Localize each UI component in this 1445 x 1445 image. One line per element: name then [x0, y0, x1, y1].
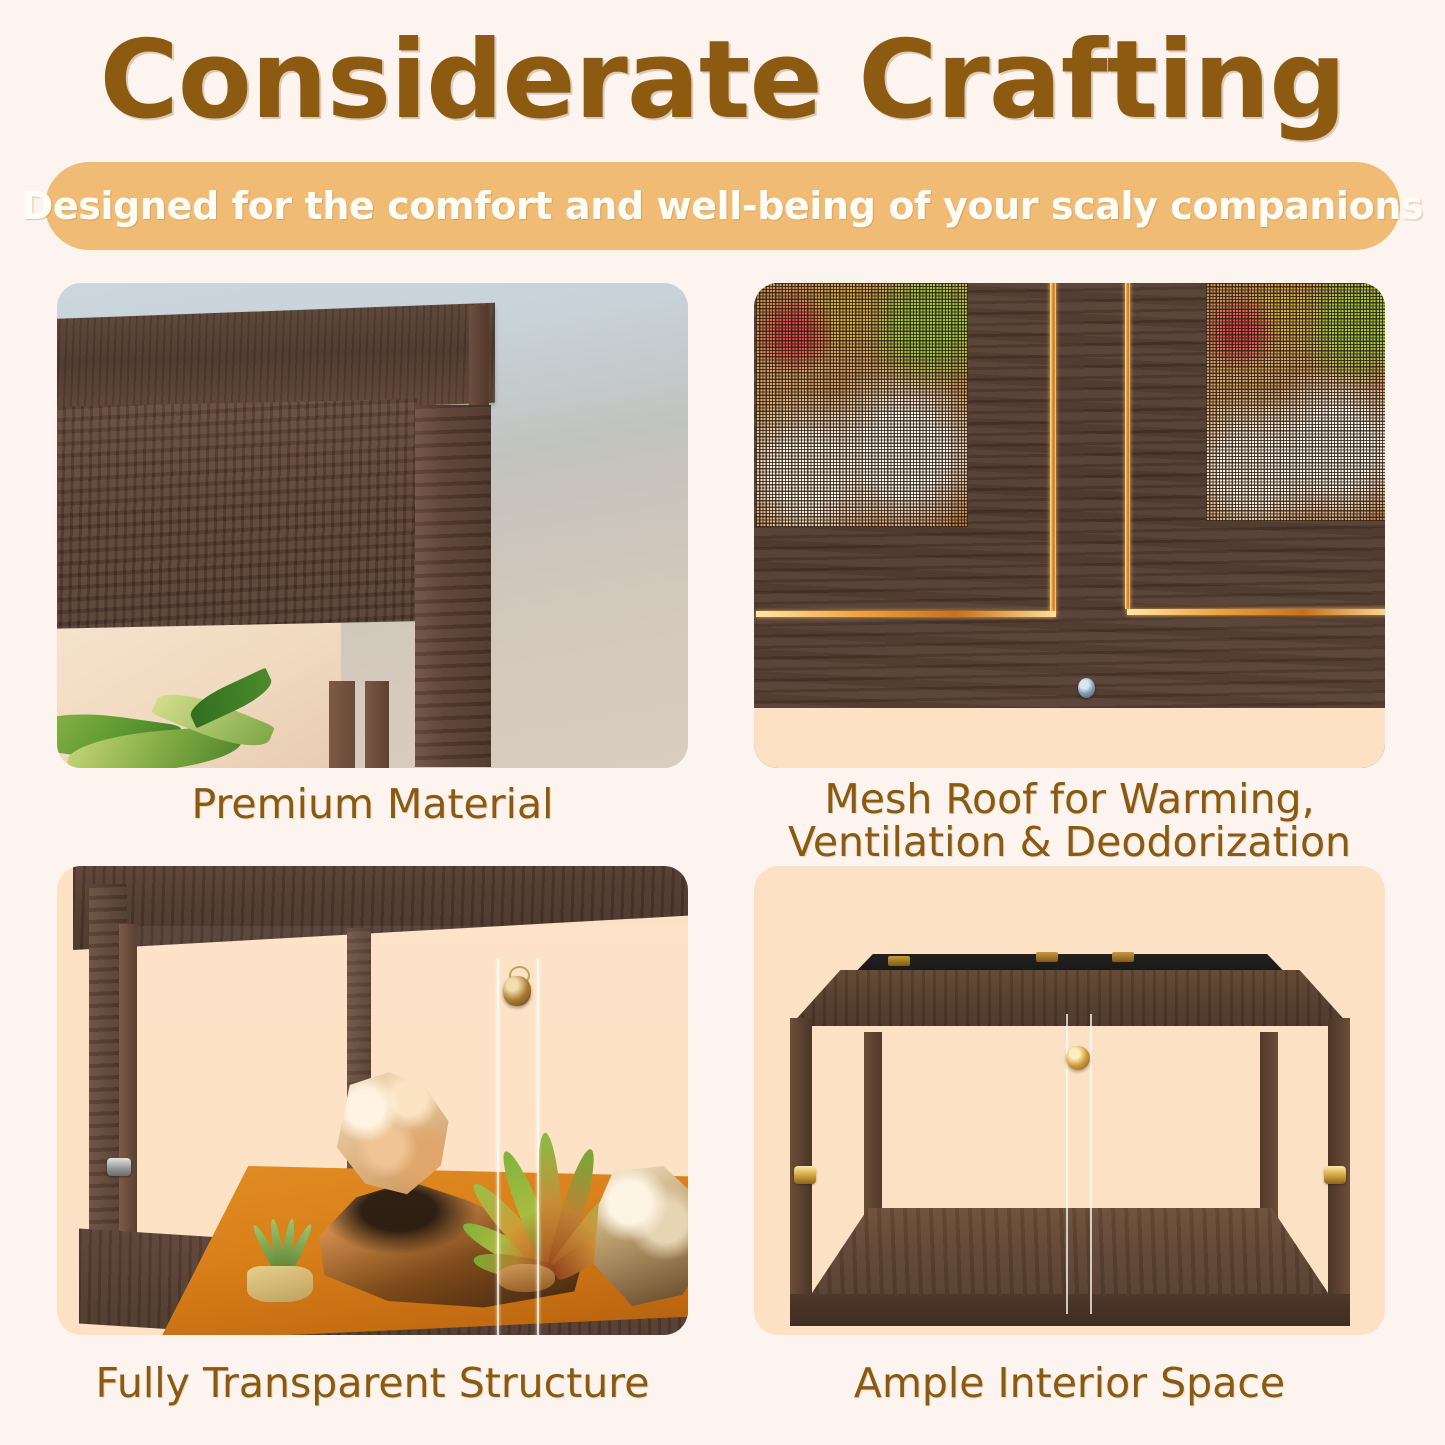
terrarium-left-post — [790, 1018, 812, 1308]
feature-image-ample-interior-space — [754, 866, 1385, 1335]
mesh-screen-texture — [1206, 283, 1385, 521]
glass-door-seam-left — [497, 958, 499, 1335]
screw-icon — [1078, 678, 1095, 698]
feature-caption-transparent-structure: Fully Transparent Structure — [47, 1362, 698, 1405]
terrarium-right-post — [1328, 1018, 1350, 1308]
subtitle-banner: Designed for the comfort and well-being … — [45, 162, 1400, 250]
mesh-screen-texture — [756, 283, 968, 527]
wood-top-edge — [469, 305, 489, 414]
feature-image-mesh-roof — [754, 283, 1385, 768]
feature-caption-line-1: Mesh Roof for Warming, — [744, 778, 1395, 821]
feature-image-transparent-structure — [57, 866, 688, 1335]
wood-inner-post-secondary — [365, 681, 389, 768]
panel-bottom-fill — [754, 708, 1385, 768]
door-hinge-icon — [107, 1158, 131, 1176]
subtitle-text: Designed for the comfort and well-being … — [22, 184, 1423, 228]
feature-caption-premium-material: Premium Material — [57, 783, 688, 826]
terrarium-inner-right-post — [1260, 1032, 1278, 1232]
terrarium-front-rail — [790, 1294, 1350, 1326]
feature-caption-line-2: Ventilation & Deodorization — [744, 821, 1395, 864]
door-knob-icon — [1066, 1046, 1090, 1070]
lid-latch-icon — [1112, 952, 1134, 962]
feature-caption-mesh-roof: Mesh Roof for Warming, Ventilation & Deo… — [744, 778, 1395, 865]
door-knob-icon — [503, 976, 531, 1006]
door-hinge-icon — [794, 1166, 816, 1184]
lid-latch-icon — [888, 956, 910, 966]
wood-front-panel — [57, 399, 417, 629]
gold-trim-vertical-left — [1050, 283, 1056, 612]
lid-latch-icon — [1036, 952, 1058, 962]
terrarium-inner-left-post — [864, 1032, 882, 1232]
plant-base — [497, 1264, 555, 1292]
mesh-opening-right — [1206, 283, 1385, 521]
gold-trim-vertical-right — [1125, 283, 1130, 609]
door-hinge-icon — [1324, 1166, 1346, 1184]
mesh-opening-left — [756, 283, 968, 527]
terrarium-top-frame — [790, 970, 1350, 1026]
gold-trim-horizontal-left — [756, 611, 1056, 617]
gold-trim-horizontal-right — [1127, 609, 1385, 615]
glass-door-seam-right — [1090, 1014, 1092, 1314]
wood-inner-post — [329, 681, 355, 768]
succulent-rock-base — [247, 1266, 313, 1302]
feature-image-premium-material — [57, 283, 688, 768]
page-title: Considerate Crafting — [0, 22, 1445, 141]
glass-door-seam-right — [537, 958, 539, 1335]
wood-corner-post — [415, 405, 491, 767]
feature-caption-ample-interior-space: Ample Interior Space — [754, 1362, 1385, 1405]
